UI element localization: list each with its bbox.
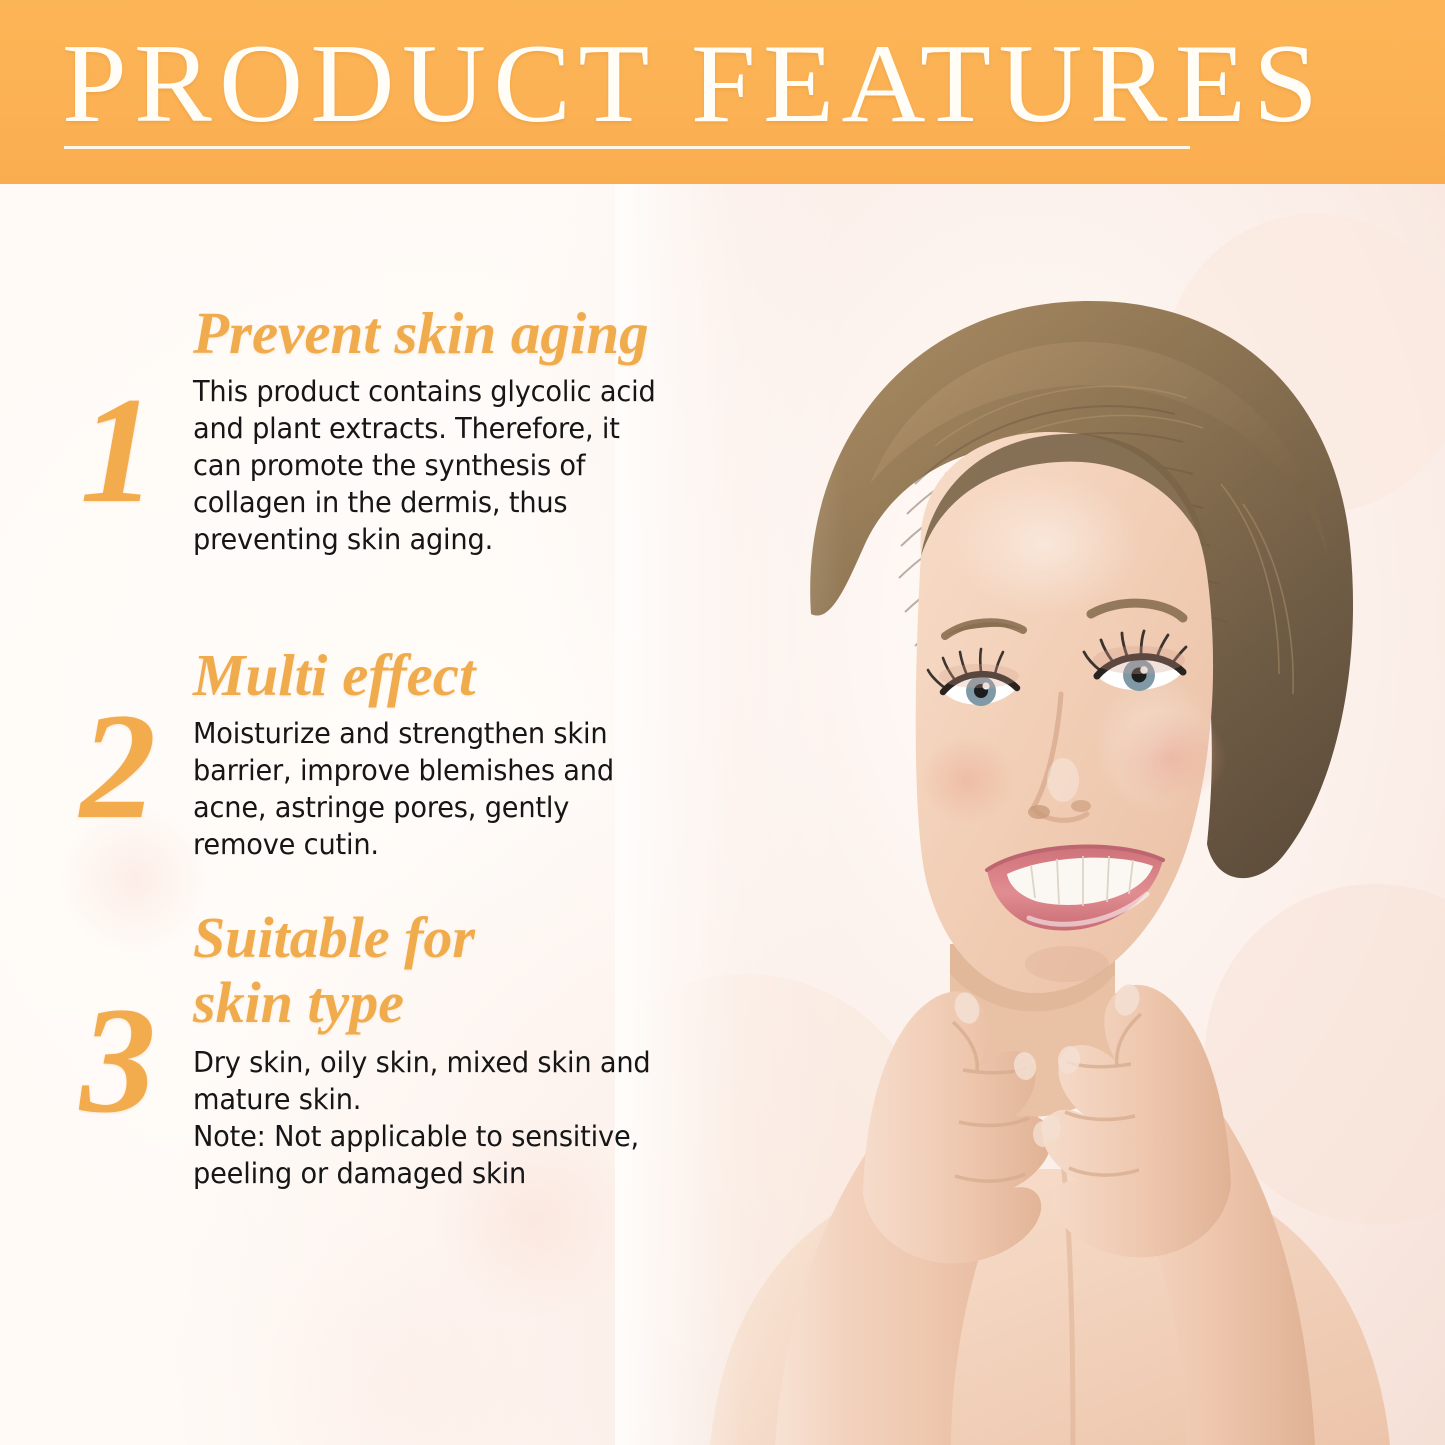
feature-heading-2: Multi effect xyxy=(193,644,693,707)
feature-heading-3: Suitable for skin type xyxy=(193,906,693,1036)
model-portrait-photo xyxy=(615,184,1445,1445)
feature-text-2: Moisturize and strengthen skin barrier, … xyxy=(193,715,671,863)
feature-heading-1: Prevent skin aging xyxy=(193,302,693,365)
header-bar: PRODUCT FEATURES xyxy=(0,0,1445,184)
feature-body-1: Prevent skin aging This product contains… xyxy=(193,302,693,558)
feature-number-1: 1 xyxy=(58,374,178,526)
feature-text-3: Dry skin, oily skin, mixed skin and matu… xyxy=(193,1044,671,1192)
feature-list: 1 Prevent skin aging This product contai… xyxy=(0,184,720,1445)
product-features-poster: PRODUCT FEATURES 1 Prevent skin aging Th… xyxy=(0,0,1445,1445)
feature-body-2: Multi effect Moisturize and strengthen s… xyxy=(193,644,693,863)
feature-number-3: 3 xyxy=(58,984,178,1136)
title-underline-rule xyxy=(64,146,1190,149)
feature-number-2: 2 xyxy=(58,690,178,842)
feature-body-3: Suitable for skin type Dry skin, oily sk… xyxy=(193,906,693,1192)
feature-text-1: This product contains glycolic acid and … xyxy=(193,373,671,558)
page-title: PRODUCT FEATURES xyxy=(62,28,1325,140)
